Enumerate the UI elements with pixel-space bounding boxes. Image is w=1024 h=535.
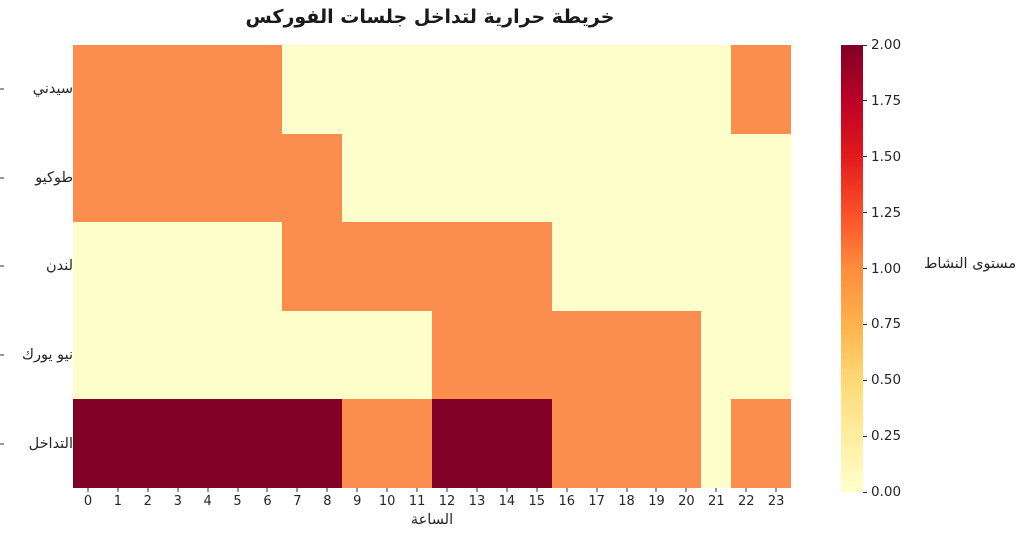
heatmap-cell: [612, 311, 642, 400]
heatmap-cell: [372, 45, 402, 134]
x-axis-tick-label: 9: [353, 494, 361, 509]
y-axis-tick: نيو يورك: [0, 311, 73, 400]
y-axis-tick: سيدني: [0, 45, 73, 134]
heatmap-cell: [372, 222, 402, 311]
heatmap-cell: [342, 222, 372, 311]
heatmap-cell: [552, 222, 582, 311]
heatmap-cell: [671, 134, 701, 223]
heatmap-cell: [342, 311, 372, 400]
x-axis-tick: 23: [761, 488, 791, 512]
heatmap-cell: [761, 222, 791, 311]
heatmap-cell: [402, 45, 432, 134]
heatmap-cell: [133, 399, 163, 488]
heatmap-cell: [163, 134, 193, 223]
heatmap-cell: [612, 399, 642, 488]
heatmap-cell: [282, 222, 312, 311]
heatmap-cell: [223, 311, 253, 400]
heatmap-cell: [133, 45, 163, 134]
heatmap-cell: [163, 45, 193, 134]
heatmap-cell: [582, 134, 612, 223]
x-axis-tick-label: 23: [768, 494, 785, 509]
x-axis-tick-label: 19: [648, 494, 665, 509]
heatmap-cell: [492, 311, 522, 400]
x-axis-tick: 20: [671, 488, 701, 512]
heatmap-cell: [522, 45, 552, 134]
x-tick-mark: [506, 488, 507, 492]
heatmap-cell: [253, 134, 283, 223]
heatmap-cell: [223, 134, 253, 223]
heatmap-cell: [312, 45, 342, 134]
heatmap-cell: [163, 311, 193, 400]
x-axis-tick: 14: [492, 488, 522, 512]
heatmap-row: [73, 134, 791, 223]
x-axis-tick: 0: [73, 488, 103, 512]
x-axis-tick-label: 16: [558, 494, 575, 509]
heatmap-cell: [312, 222, 342, 311]
heatmap-cell: [312, 134, 342, 223]
x-tick-mark: [626, 488, 627, 492]
y-axis-tick-label: التداخل: [22, 436, 73, 452]
colorbar-tick-label: 0.25: [867, 428, 901, 444]
x-tick-mark: [297, 488, 298, 492]
x-axis-tick: 19: [642, 488, 672, 512]
heatmap-cell: [432, 222, 462, 311]
x-axis-tick: 5: [223, 488, 253, 512]
x-axis-tick-label: 11: [409, 494, 426, 509]
x-axis-tick: 11: [402, 488, 432, 512]
y-axis-tick-label: طوكيو: [28, 170, 73, 186]
y-axis-tick: لندن: [0, 222, 73, 311]
heatmap-cell: [582, 45, 612, 134]
heatmap-row: [73, 311, 791, 400]
heatmap-cell: [671, 399, 701, 488]
page-title: خريطة حرارية لتداخل جلسات الفوركس: [0, 6, 860, 28]
x-axis-tick-label: 0: [84, 494, 92, 509]
heatmap-cell: [552, 134, 582, 223]
x-axis-tick-label: 4: [204, 494, 212, 509]
heatmap-cell: [282, 399, 312, 488]
heatmap-row: [73, 45, 791, 134]
colorbar-tick-label: 0.00: [867, 484, 901, 500]
heatmap-cell: [73, 222, 103, 311]
y-axis-tick: التداخل: [0, 399, 73, 488]
heatmap-plot-area: [73, 45, 791, 488]
heatmap-cell: [522, 134, 552, 223]
heatmap-cell: [372, 399, 402, 488]
x-axis-tick: 22: [731, 488, 761, 512]
colorbar: 0.000.250.500.751.001.251.501.752.00: [841, 45, 863, 492]
x-tick-mark: [417, 488, 418, 492]
heatmap-cell: [402, 134, 432, 223]
heatmap-cell: [731, 222, 761, 311]
x-axis-tick: 15: [522, 488, 552, 512]
heatmap-cell: [103, 311, 133, 400]
heatmap-cell: [492, 45, 522, 134]
heatmap-cell: [103, 134, 133, 223]
heatmap-cell: [462, 134, 492, 223]
heatmap-cell: [402, 399, 432, 488]
heatmap-cell: [163, 399, 193, 488]
y-axis-tick-label: لندن: [39, 258, 73, 274]
x-axis-tick-label: 3: [174, 494, 182, 509]
x-axis-tick-label: 17: [588, 494, 605, 509]
y-axis-tick: طوكيو: [0, 134, 73, 223]
y-axis-tick-label: نيو يورك: [15, 347, 73, 363]
heatmap-row: [73, 399, 791, 488]
colorbar-gradient: [841, 45, 863, 492]
x-axis-label: الساعة: [73, 512, 791, 528]
colorbar-tick-label: 2.00: [867, 37, 901, 53]
heatmap-cell: [462, 399, 492, 488]
x-axis-tick-label: 14: [499, 494, 516, 509]
heatmap-cell: [253, 45, 283, 134]
heatmap-cell: [552, 45, 582, 134]
x-axis-tick: 16: [552, 488, 582, 512]
heatmap-cell: [103, 45, 133, 134]
heatmap-figure: خريطة حرارية لتداخل جلسات الفوركس سيدنيط…: [0, 0, 1024, 535]
x-axis-tick: 3: [163, 488, 193, 512]
colorbar-label: مستوى النشاط: [924, 256, 1016, 272]
heatmap-cell: [761, 399, 791, 488]
heatmap-cell: [133, 222, 163, 311]
heatmap-cell: [432, 134, 462, 223]
heatmap-cell: [432, 399, 462, 488]
heatmap-cell: [282, 134, 312, 223]
x-tick-mark: [177, 488, 178, 492]
heatmap-row: [73, 222, 791, 311]
heatmap-cell: [701, 222, 731, 311]
x-tick-mark: [716, 488, 717, 492]
x-tick-mark: [387, 488, 388, 492]
x-axis-tick: 18: [612, 488, 642, 512]
heatmap-cell: [462, 45, 492, 134]
heatmap-cell: [253, 311, 283, 400]
heatmap-cell: [522, 399, 552, 488]
heatmap-cell: [223, 45, 253, 134]
heatmap-cell: [642, 311, 672, 400]
heatmap-cell: [582, 399, 612, 488]
x-tick-mark: [776, 488, 777, 492]
x-tick-mark: [686, 488, 687, 492]
x-tick-mark: [207, 488, 208, 492]
x-axis-tick: 1: [103, 488, 133, 512]
heatmap-cell: [552, 311, 582, 400]
x-axis-tick-label: 13: [469, 494, 486, 509]
heatmap-cell: [73, 45, 103, 134]
x-axis-tick: 7: [282, 488, 312, 512]
x-axis-tick-label: 1: [114, 494, 122, 509]
x-tick-mark: [447, 488, 448, 492]
heatmap-cell: [642, 45, 672, 134]
heatmap-cell: [193, 222, 223, 311]
heatmap-cell: [253, 222, 283, 311]
x-tick-mark: [536, 488, 537, 492]
x-axis-tick: 6: [253, 488, 283, 512]
heatmap-cell: [612, 45, 642, 134]
heatmap-cell: [342, 134, 372, 223]
y-axis: سيدنيطوكيولندننيو يوركالتداخل: [0, 45, 73, 488]
y-tick-mark: [0, 266, 4, 267]
heatmap-cell: [761, 134, 791, 223]
x-tick-mark: [746, 488, 747, 492]
colorbar-tick-label: 0.75: [867, 316, 901, 332]
x-axis-tick: 10: [372, 488, 402, 512]
x-axis-tick-label: 7: [293, 494, 301, 509]
heatmap-cell: [492, 222, 522, 311]
x-axis-tick-label: 22: [738, 494, 755, 509]
heatmap-cell: [612, 134, 642, 223]
heatmap-cell: [612, 222, 642, 311]
heatmap-cell: [193, 311, 223, 400]
heatmap-cell: [402, 222, 432, 311]
x-tick-mark: [596, 488, 597, 492]
heatmap-cell: [761, 45, 791, 134]
heatmap-cell: [701, 311, 731, 400]
x-tick-mark: [357, 488, 358, 492]
heatmap-cell: [372, 134, 402, 223]
x-axis-tick: 21: [701, 488, 731, 512]
heatmap-cell: [163, 222, 193, 311]
heatmap-cell: [761, 311, 791, 400]
y-tick-mark: [0, 443, 4, 444]
heatmap-cell: [462, 222, 492, 311]
x-axis-tick: 9: [342, 488, 372, 512]
heatmap-cell: [522, 311, 552, 400]
x-axis-tick-label: 20: [678, 494, 695, 509]
heatmap-cell: [701, 399, 731, 488]
heatmap-cell: [253, 399, 283, 488]
heatmap-cell: [73, 134, 103, 223]
x-axis-tick: 12: [432, 488, 462, 512]
y-axis-tick-label: سيدني: [26, 81, 73, 97]
x-axis-tick-label: 18: [618, 494, 635, 509]
x-axis-tick: 17: [582, 488, 612, 512]
x-axis-tick: 8: [312, 488, 342, 512]
heatmap-cell: [671, 311, 701, 400]
heatmap-cell: [73, 311, 103, 400]
x-axis-tick-label: 21: [708, 494, 725, 509]
x-tick-mark: [117, 488, 118, 492]
heatmap-cell: [223, 222, 253, 311]
x-axis-tick: 13: [462, 488, 492, 512]
heatmap-cell: [282, 311, 312, 400]
heatmap-cell: [73, 399, 103, 488]
x-axis: 01234567891011121314151617181920212223: [73, 488, 791, 512]
x-tick-mark: [237, 488, 238, 492]
heatmap-cell: [731, 134, 761, 223]
heatmap-cell: [701, 45, 731, 134]
heatmap-cell: [582, 222, 612, 311]
heatmap-cell: [103, 399, 133, 488]
heatmap-cell: [552, 399, 582, 488]
heatmap-cell: [312, 311, 342, 400]
heatmap-cell: [193, 45, 223, 134]
y-tick-mark: [0, 89, 4, 90]
x-tick-mark: [327, 488, 328, 492]
heatmap-cell: [671, 222, 701, 311]
x-tick-mark: [566, 488, 567, 492]
x-tick-mark: [147, 488, 148, 492]
x-axis-tick-label: 2: [144, 494, 152, 509]
heatmap-cell: [133, 134, 163, 223]
y-tick-mark: [0, 355, 4, 356]
heatmap-cell: [133, 311, 163, 400]
x-axis-tick-label: 10: [379, 494, 396, 509]
x-axis-tick-label: 6: [263, 494, 271, 509]
heatmap-cell: [642, 222, 672, 311]
heatmap-cell: [223, 399, 253, 488]
colorbar-tick-label: 1.00: [867, 261, 901, 277]
heatmap-cell: [492, 399, 522, 488]
heatmap-cell: [103, 222, 133, 311]
x-axis-tick: 2: [133, 488, 163, 512]
x-axis-tick-label: 12: [439, 494, 456, 509]
heatmap-cell: [342, 45, 372, 134]
y-tick-mark: [0, 177, 4, 178]
heatmap-cell: [432, 311, 462, 400]
heatmap-cell: [193, 399, 223, 488]
heatmap-cell: [522, 222, 552, 311]
heatmap-cell: [731, 399, 761, 488]
heatmap-cell: [372, 311, 402, 400]
x-axis-tick-label: 8: [323, 494, 331, 509]
heatmap-cell: [492, 134, 522, 223]
colorbar-tick-label: 0.50: [867, 372, 901, 388]
x-tick-mark: [267, 488, 268, 492]
heatmap-cell: [402, 311, 432, 400]
x-tick-mark: [87, 488, 88, 492]
heatmap-cell: [671, 45, 701, 134]
colorbar-tick-label: 1.25: [867, 205, 901, 221]
heatmap-cell: [462, 311, 492, 400]
colorbar-tick-label: 1.50: [867, 149, 901, 165]
heatmap-cell: [642, 399, 672, 488]
heatmap-cell: [731, 45, 761, 134]
heatmap-cell: [582, 311, 612, 400]
x-axis-tick-label: 5: [233, 494, 241, 509]
heatmap-cell: [193, 134, 223, 223]
x-tick-mark: [656, 488, 657, 492]
x-tick-mark: [476, 488, 477, 492]
heatmap-cell: [342, 399, 372, 488]
heatmap-cell: [731, 311, 761, 400]
heatmap-cell: [701, 134, 731, 223]
heatmap-cell: [312, 399, 342, 488]
heatmap-cell: [642, 134, 672, 223]
colorbar-tick-label: 1.75: [867, 93, 901, 109]
heatmap-cell: [282, 45, 312, 134]
x-axis-tick: 4: [193, 488, 223, 512]
x-axis-tick-label: 15: [529, 494, 546, 509]
heatmap-cell: [432, 45, 462, 134]
